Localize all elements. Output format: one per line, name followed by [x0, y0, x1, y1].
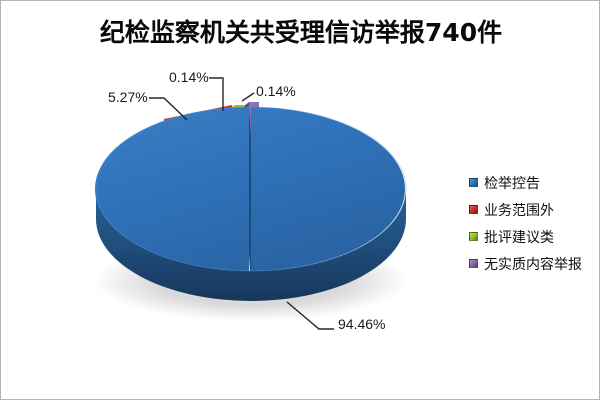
data-label-blue: 94.46% [338, 316, 385, 332]
legend-item-yewufanweiwai[interactable]: 业务范围外 [469, 198, 597, 221]
chart-legend: 检举控告 业务范围外 批评建议类 无实质内容举报 [469, 171, 597, 279]
legend-item-wushizhineirongjubao[interactable]: 无实质内容举报 [469, 252, 597, 275]
legend-label-3: 无实质内容举报 [484, 254, 582, 274]
legend-swatch-green-icon [469, 232, 478, 241]
pie-slice-blue[interactable] [95, 107, 406, 301]
legend-swatch-blue-icon [469, 178, 478, 187]
data-label-purple: 0.14% [256, 83, 296, 99]
data-label-green: 0.14% [169, 69, 209, 85]
leader-line-purple [242, 93, 254, 101]
leader-line-green [209, 78, 223, 111]
legend-swatch-red-icon [469, 205, 478, 214]
data-label-red: 5.27% [108, 89, 148, 105]
legend-item-jianjukonggao[interactable]: 检举控告 [469, 171, 597, 194]
legend-label-2: 批评建议类 [484, 227, 554, 247]
legend-swatch-purple-icon [469, 259, 478, 268]
legend-item-pipingjianyilei[interactable]: 批评建议类 [469, 225, 597, 248]
legend-label-0: 检举控告 [484, 173, 540, 193]
chart-frame: 纪检监察机关共受理信访举报740件 [0, 0, 600, 400]
legend-label-1: 业务范围外 [484, 200, 554, 220]
